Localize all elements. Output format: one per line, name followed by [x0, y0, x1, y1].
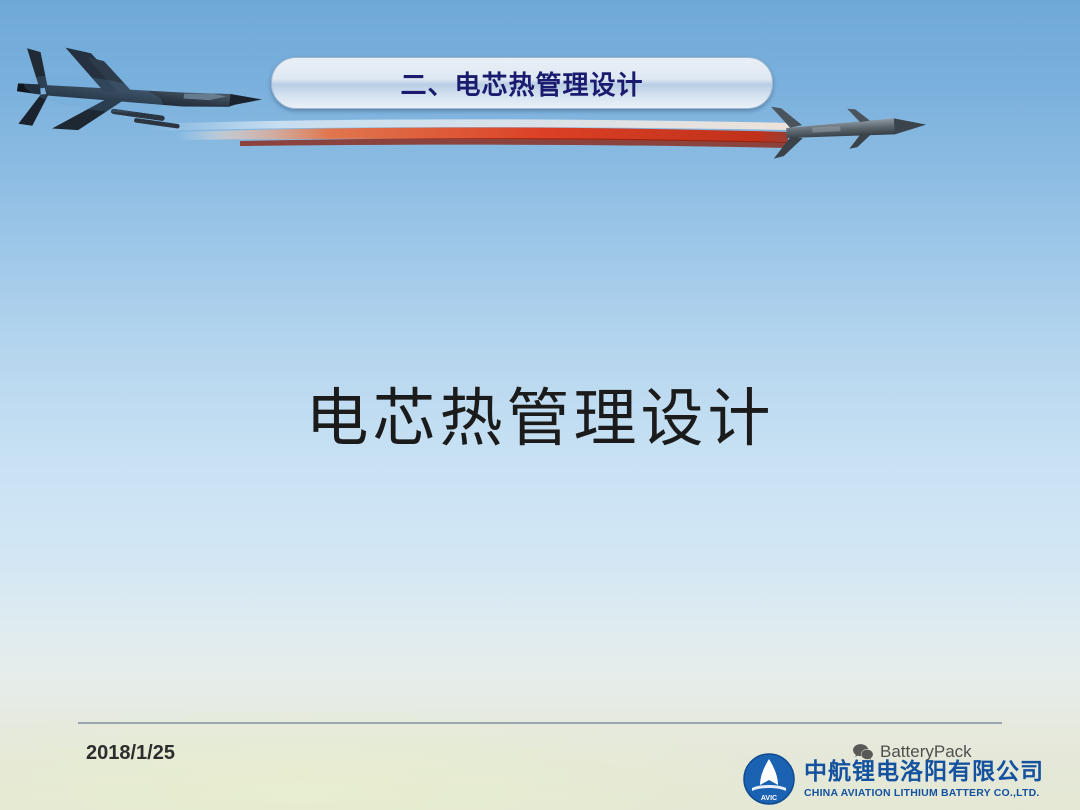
- company-name-en: CHINA AVIATION LITHIUM BATTERY CO.,LTD.: [804, 787, 1044, 799]
- watermark: BatteryPack: [852, 742, 972, 762]
- company-name-cn: 中航锂电洛阳有限公司: [804, 759, 1044, 785]
- page-title: 电芯热管理设计: [0, 385, 1080, 454]
- section-banner: 二、电芯热管理设计: [271, 57, 773, 109]
- footer-date: 2018/1/25: [86, 742, 175, 765]
- slide: 二、电芯热管理设计 电芯热管理设计 2018/1/25 AVIC 中航锂电洛阳有…: [0, 0, 1080, 810]
- watermark-text: BatteryPack: [880, 742, 972, 762]
- wechat-icon: [852, 743, 874, 762]
- company-logo-text: 中航锂电洛阳有限公司 CHINA AVIATION LITHIUM BATTER…: [804, 759, 1044, 799]
- section-banner-title: 二、电芯热管理设计: [400, 65, 643, 102]
- avic-logo-icon: AVIC: [742, 752, 796, 806]
- footer-divider: [78, 722, 1002, 724]
- avic-logo-wordmark: AVIC: [761, 795, 777, 802]
